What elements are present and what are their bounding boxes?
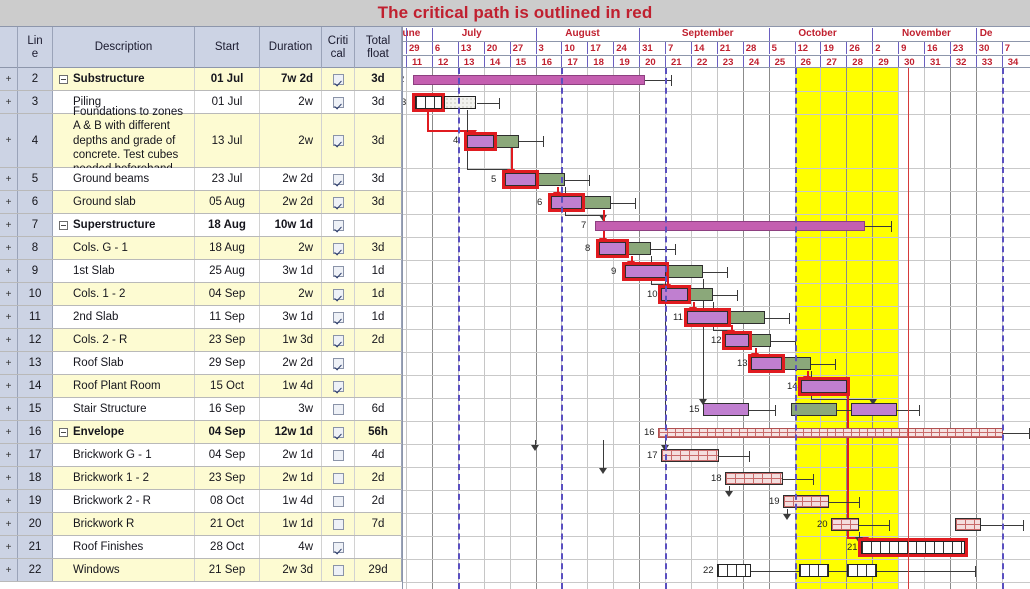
checkbox-checked-icon[interactable] <box>333 243 344 254</box>
cell-description[interactable]: Roof Plant Room <box>53 375 195 397</box>
gridline-horizontal <box>403 559 1030 560</box>
bar-row-label: 3 <box>402 97 406 108</box>
row-expand-handle[interactable]: + <box>0 306 18 328</box>
cell-line-number: 17 <box>18 444 53 466</box>
cell-start-date[interactable]: 05 Aug <box>195 191 260 213</box>
week-start-label: 17 <box>590 43 601 55</box>
row-expand-handle[interactable]: + <box>0 398 18 420</box>
checkbox-unchecked-icon[interactable] <box>333 450 344 461</box>
task-bar-actual[interactable] <box>728 311 765 324</box>
chart-frame: Lin e Description Start Duration Criti c… <box>0 26 1030 589</box>
cell-start-date[interactable]: 13 Jul <box>195 114 260 167</box>
month-label: June <box>402 28 420 40</box>
week-start-label: 9 <box>901 43 906 55</box>
week-number-tick <box>820 56 821 67</box>
month-label: De <box>980 28 993 40</box>
checkbox-checked-icon[interactable] <box>333 135 344 146</box>
task-bar-actual[interactable] <box>666 265 703 278</box>
cell-description[interactable]: Windows <box>53 559 195 581</box>
cell-start-date[interactable]: 21 Oct <box>195 513 260 535</box>
cell-start-date[interactable]: 21 Sep <box>195 559 260 581</box>
week-start-label: 13 <box>461 43 472 55</box>
collapse-icon[interactable] <box>59 75 68 84</box>
row-expand-handle[interactable]: + <box>0 421 18 443</box>
float-whisker-end <box>727 267 728 278</box>
float-whisker-end <box>813 474 814 485</box>
gridline-horizontal <box>403 513 1030 514</box>
column-header-critical-text2: cal <box>328 48 348 60</box>
critical-outline <box>412 93 445 112</box>
summary-bar[interactable] <box>413 75 645 85</box>
cell-critical-checkbox[interactable] <box>322 91 355 113</box>
description-text: Brickwork G - 1 <box>59 449 152 461</box>
row-expand-handle[interactable]: + <box>0 214 18 236</box>
cell-total-float: 1d <box>355 283 402 305</box>
collapse-icon[interactable] <box>59 221 68 230</box>
cell-description[interactable]: Cols. 2 - R <box>53 329 195 351</box>
cell-duration[interactable]: 4w <box>260 536 322 558</box>
row-expand-handle[interactable]: + <box>0 168 18 190</box>
row-expand-handle[interactable]: + <box>0 375 18 397</box>
cell-line-number: 12 <box>18 329 53 351</box>
cell-critical-checkbox[interactable] <box>322 306 355 328</box>
cell-description[interactable]: Brickwork 2 - R <box>53 490 195 512</box>
cell-duration[interactable]: 3w 1d <box>260 306 322 328</box>
checkbox-checked-icon[interactable] <box>333 381 344 392</box>
table-row[interactable]: +22Windows21 Sep2w 3d29d <box>0 559 402 582</box>
gridline-horizontal <box>403 444 1030 445</box>
cell-description[interactable]: Envelope <box>53 421 195 443</box>
cell-description[interactable]: Roof Finishes <box>53 536 195 558</box>
cell-line-number: 18 <box>18 467 53 489</box>
cell-duration[interactable]: 1w 4d <box>260 490 322 512</box>
table-row[interactable]: +5Ground beams23 Jul2w 2d3d <box>0 168 402 191</box>
cell-start-date[interactable]: 01 Jul <box>195 91 260 113</box>
cell-duration[interactable]: 2w 1d <box>260 467 322 489</box>
column-header-duration[interactable]: Duration <box>260 27 322 68</box>
summary-bar[interactable] <box>658 428 1003 438</box>
bar-row-label: 8 <box>585 243 590 254</box>
gridline-horizontal <box>403 375 1030 376</box>
cell-line-number: 2 <box>18 68 53 90</box>
checkbox-checked-icon[interactable] <box>333 220 344 231</box>
float-whisker <box>713 295 737 296</box>
row-expand-handle[interactable]: + <box>0 559 18 581</box>
critical-outline <box>596 239 629 258</box>
cell-critical-checkbox[interactable] <box>322 68 355 90</box>
cell-description[interactable]: Cols. G - 1 <box>53 237 195 259</box>
cell-start-date[interactable]: 15 Oct <box>195 375 260 397</box>
cell-start-date[interactable]: 23 Jul <box>195 168 260 190</box>
checkbox-checked-icon[interactable] <box>333 335 344 346</box>
task-bar-actual[interactable] <box>626 242 651 255</box>
task-bar-actual[interactable] <box>791 403 837 416</box>
table-row[interactable]: +91st Slab25 Aug3w 1d1d <box>0 260 402 283</box>
cell-start-date[interactable]: 04 Sep <box>195 444 260 466</box>
row-expand-handle[interactable]: + <box>0 191 18 213</box>
cell-line-number: 19 <box>18 490 53 512</box>
description-text: Roof Slab <box>59 357 124 369</box>
cell-duration[interactable]: 2w 3d <box>260 559 322 581</box>
cell-description[interactable]: Ground slab <box>53 191 195 213</box>
week-start-label: 7 <box>668 43 673 55</box>
cell-duration[interactable]: 12w 1d <box>260 421 322 443</box>
description-text: Cols. 1 - 2 <box>59 288 125 300</box>
cell-line-number: 13 <box>18 352 53 374</box>
checkbox-checked-icon[interactable] <box>333 174 344 185</box>
critical-outline <box>798 377 850 396</box>
month-tick <box>639 28 640 41</box>
gridline-horizontal <box>403 114 1030 115</box>
cell-critical-checkbox[interactable] <box>322 114 355 167</box>
month-label: September <box>682 28 734 40</box>
description-text: Roof Plant Room <box>59 380 161 392</box>
week-number-tick <box>536 56 537 67</box>
column-header-start[interactable]: Start <box>195 27 260 68</box>
table-row[interactable]: +7Superstructure18 Aug10w 1d <box>0 214 402 237</box>
week-start-label: 21 <box>720 43 731 55</box>
cell-critical-checkbox[interactable] <box>322 237 355 259</box>
bar-row-label: 21 <box>847 542 858 553</box>
link-arrowhead <box>531 445 539 451</box>
cell-duration[interactable]: 7w 2d <box>260 68 322 90</box>
cell-line-number: 22 <box>18 559 53 581</box>
cell-duration[interactable]: 2w 2d <box>260 168 322 190</box>
week-number-tick <box>561 56 562 67</box>
column-header-float-text1: Total <box>366 35 390 47</box>
week-tick <box>898 42 899 54</box>
week-number-tick <box>587 56 588 67</box>
critical-outline <box>658 285 691 304</box>
float-whisker-end <box>975 566 976 577</box>
table-row[interactable]: +112nd Slab11 Sep3w 1d1d <box>0 306 402 329</box>
cell-start-date[interactable]: 04 Sep <box>195 283 260 305</box>
row-expand-handle[interactable]: + <box>0 91 18 113</box>
cell-total-float: 2d <box>355 467 402 489</box>
cell-critical-checkbox[interactable] <box>322 214 355 236</box>
cell-duration[interactable]: 2w 2d <box>260 191 322 213</box>
table-row[interactable]: +15Stair Structure16 Sep3w6d <box>0 398 402 421</box>
column-header-total-float[interactable]: Total float <box>355 27 402 68</box>
cell-critical-checkbox[interactable] <box>322 398 355 420</box>
float-whisker-end <box>835 359 836 370</box>
table-row[interactable]: +12Cols. 2 - R23 Sep1w 3d2d <box>0 329 402 352</box>
cell-duration[interactable]: 2w 2d <box>260 352 322 374</box>
cell-duration[interactable]: 10w 1d <box>260 214 322 236</box>
cell-critical-checkbox[interactable] <box>322 375 355 397</box>
float-whisker <box>859 525 889 526</box>
task-bar-forecast[interactable] <box>955 518 981 531</box>
cell-duration[interactable]: 1w 1d <box>260 513 322 535</box>
cell-description[interactable]: Superstructure <box>53 214 195 236</box>
column-header-handle <box>0 27 18 68</box>
checkbox-unchecked-icon[interactable] <box>333 496 344 507</box>
checkbox-checked-icon[interactable] <box>333 542 344 553</box>
cell-start-date[interactable]: 16 Sep <box>195 398 260 420</box>
link-arrowhead <box>599 468 607 474</box>
task-bar-actual[interactable] <box>494 135 519 148</box>
checkbox-checked-icon[interactable] <box>333 427 344 438</box>
table-row[interactable]: +18Brickwork 1 - 223 Sep2w 1d2d <box>0 467 402 490</box>
float-whisker <box>837 410 851 411</box>
bar-row-label: 20 <box>817 519 828 530</box>
cell-duration[interactable]: 2w <box>260 91 322 113</box>
row-expand-handle[interactable]: + <box>0 513 18 535</box>
float-whisker-end <box>543 136 544 147</box>
task-bar-forecast[interactable] <box>851 403 897 416</box>
bar-row-label: 19 <box>769 496 780 507</box>
row-expand-handle[interactable]: + <box>0 68 18 90</box>
description-text: Envelope <box>73 426 124 438</box>
cell-duration[interactable]: 3w <box>260 398 322 420</box>
checkbox-checked-icon[interactable] <box>333 197 344 208</box>
summary-bar-body <box>658 428 1003 438</box>
checkbox-checked-icon[interactable] <box>333 289 344 300</box>
week-start-label: 12 <box>798 43 809 55</box>
row-expand-handle[interactable]: + <box>0 352 18 374</box>
cell-description[interactable]: Stair Structure <box>53 398 195 420</box>
cell-description[interactable]: Brickwork 1 - 2 <box>53 467 195 489</box>
week-number-tick <box>484 56 485 67</box>
task-bar-planned[interactable] <box>444 96 476 109</box>
cell-duration[interactable]: 2w 1d <box>260 444 322 466</box>
month-label: August <box>565 28 599 40</box>
task-bar-forecast[interactable] <box>847 564 877 577</box>
cell-start-date[interactable]: 29 Sep <box>195 352 260 374</box>
task-bar-planned[interactable] <box>703 403 749 416</box>
cell-duration[interactable]: 2w <box>260 114 322 167</box>
cell-description[interactable]: Brickwork R <box>53 513 195 535</box>
summary-bar[interactable] <box>595 221 865 231</box>
progress-marker <box>561 68 563 589</box>
row-expand-handle[interactable]: + <box>0 444 18 466</box>
week-tick <box>587 42 588 54</box>
week-start-label: 29 <box>409 43 420 55</box>
cell-critical-checkbox[interactable] <box>322 490 355 512</box>
description-text: Stair Structure <box>59 403 147 415</box>
table-row[interactable]: +4Foundations to zones A & B with differ… <box>0 114 402 168</box>
row-expand-handle[interactable]: + <box>0 283 18 305</box>
cell-description[interactable]: 1st Slab <box>53 260 195 282</box>
gridline-horizontal <box>403 214 1030 215</box>
week-number-tick <box>717 56 718 67</box>
month-tick <box>872 28 873 41</box>
cell-duration[interactable]: 2w <box>260 237 322 259</box>
cell-description[interactable]: Substructure <box>53 68 195 90</box>
cell-start-date[interactable]: 28 Oct <box>195 536 260 558</box>
cell-start-date[interactable]: 04 Sep <box>195 421 260 443</box>
cell-total-float: 3d <box>355 68 402 90</box>
cell-start-date[interactable]: 01 Jul <box>195 68 260 90</box>
row-expand-handle[interactable]: + <box>0 536 18 558</box>
task-bar-planned[interactable] <box>661 449 719 462</box>
row-expand-handle[interactable]: + <box>0 237 18 259</box>
column-header-line[interactable]: Lin e <box>18 27 53 68</box>
cell-critical-checkbox[interactable] <box>322 444 355 466</box>
week-number-tick <box>950 56 951 67</box>
float-whisker-end <box>635 198 636 209</box>
month-tick <box>769 28 770 41</box>
row-expand-handle[interactable]: + <box>0 467 18 489</box>
description-text: Ground slab <box>59 196 136 208</box>
checkbox-checked-icon[interactable] <box>333 266 344 277</box>
cell-critical-checkbox[interactable] <box>322 559 355 581</box>
cell-description[interactable]: Foundations to zones A & B with differen… <box>53 114 195 167</box>
cell-line-number: 9 <box>18 260 53 282</box>
bar-row-label: 11 <box>673 312 683 323</box>
task-bar-actual[interactable] <box>688 288 713 301</box>
task-bar-actual[interactable] <box>799 564 829 577</box>
float-whisker-end <box>749 451 750 462</box>
cell-critical-checkbox[interactable] <box>322 191 355 213</box>
week-number-tick <box>613 56 614 67</box>
cell-start-date[interactable]: 11 Sep <box>195 306 260 328</box>
week-tick <box>950 42 951 54</box>
cell-start-date[interactable]: 08 Oct <box>195 490 260 512</box>
cell-line-number: 3 <box>18 91 53 113</box>
cell-description[interactable]: Cols. 1 - 2 <box>53 283 195 305</box>
table-row[interactable]: +8Cols. G - 118 Aug2w3d <box>0 237 402 260</box>
cell-total-float: 4d <box>355 444 402 466</box>
float-whisker-end <box>789 313 790 324</box>
cell-total-float <box>355 375 402 397</box>
gridline-horizontal <box>403 283 1030 284</box>
cell-start-date[interactable]: 23 Sep <box>195 329 260 351</box>
title-bar: The critical path is outlined in red <box>0 0 1030 26</box>
checkbox-checked-icon[interactable] <box>333 74 344 85</box>
table-row[interactable]: +6Ground slab05 Aug2w 2d3d <box>0 191 402 214</box>
description-text: 1st Slab <box>59 265 115 277</box>
month-tick <box>536 28 537 41</box>
table-row[interactable]: +2Substructure01 Jul7w 2d3d <box>0 68 402 91</box>
cell-critical-checkbox[interactable] <box>322 283 355 305</box>
link-vertical <box>511 148 513 169</box>
collapse-icon[interactable] <box>59 428 68 437</box>
progress-marker <box>795 68 797 589</box>
float-whisker <box>1003 433 1029 434</box>
cell-start-date[interactable]: 25 Aug <box>195 260 260 282</box>
checkbox-checked-icon[interactable] <box>333 312 344 323</box>
task-bar-planned[interactable] <box>725 472 783 485</box>
cell-total-float <box>355 536 402 558</box>
cell-duration[interactable]: 1w 4d <box>260 375 322 397</box>
column-header-description[interactable]: Description <box>53 27 195 68</box>
table-header-row: Lin e Description Start Duration Criti c… <box>0 26 402 68</box>
table-row[interactable]: +14Roof Plant Room15 Oct1w 4d <box>0 375 402 398</box>
week-tick <box>536 42 537 54</box>
cell-start-date[interactable]: 18 Aug <box>195 214 260 236</box>
cell-critical-checkbox[interactable] <box>322 467 355 489</box>
cell-line-number: 6 <box>18 191 53 213</box>
task-bar-actual[interactable] <box>582 196 611 209</box>
checkbox-checked-icon[interactable] <box>333 358 344 369</box>
gridline-horizontal <box>403 582 1030 583</box>
cell-line-number: 5 <box>18 168 53 190</box>
month-tick <box>406 28 407 41</box>
week-start-label: 10 <box>564 43 575 55</box>
month-label: October <box>798 28 836 40</box>
task-bar-actual[interactable] <box>782 357 811 370</box>
cell-duration[interactable]: 2w <box>260 283 322 305</box>
cell-critical-checkbox[interactable] <box>322 536 355 558</box>
cell-total-float: 7d <box>355 513 402 535</box>
cell-description[interactable]: 2nd Slab <box>53 306 195 328</box>
float-whisker <box>651 249 675 250</box>
table-row[interactable]: +10Cols. 1 - 204 Sep2w1d <box>0 283 402 306</box>
gridline-horizontal <box>403 352 1030 353</box>
week-number-tick <box>898 56 899 67</box>
cell-start-date[interactable]: 18 Aug <box>195 237 260 259</box>
cell-critical-checkbox[interactable] <box>322 329 355 351</box>
week-tick <box>795 42 796 54</box>
task-bar-actual[interactable] <box>749 334 771 347</box>
week-start-label: 7 <box>1005 43 1010 55</box>
table-row[interactable]: +13Roof Slab29 Sep2w 2d <box>0 352 402 375</box>
task-bar-planned[interactable] <box>831 518 859 531</box>
gridline-horizontal <box>403 536 1030 537</box>
cell-critical-checkbox[interactable] <box>322 168 355 190</box>
week-number-tick <box>795 56 796 67</box>
gantt-application: The critical path is outlined in red Lin… <box>0 0 1030 589</box>
week-tick <box>976 42 977 54</box>
week-tick <box>510 42 511 54</box>
table-row[interactable]: +21Roof Finishes28 Oct4w <box>0 536 402 559</box>
week-tick <box>769 42 770 54</box>
cell-duration[interactable]: 1w 3d <box>260 329 322 351</box>
cell-start-date[interactable]: 23 Sep <box>195 467 260 489</box>
description-text: Brickwork R <box>59 518 134 530</box>
table-row[interactable]: +16Envelope04 Sep12w 1d56h <box>0 421 402 444</box>
row-expand-handle[interactable]: + <box>0 490 18 512</box>
checkbox-unchecked-icon[interactable] <box>333 565 344 576</box>
checkbox-unchecked-icon[interactable] <box>333 519 344 530</box>
bar-row-label: 7 <box>581 220 586 231</box>
cell-duration[interactable]: 3w 1d <box>260 260 322 282</box>
gridline-horizontal <box>403 91 1030 92</box>
bar-row-label: 2 <box>402 74 404 85</box>
gantt-pane: JuneJulyAugustSeptemberOctoberNovemberDe… <box>402 26 1030 589</box>
row-expand-handle[interactable]: + <box>0 329 18 351</box>
float-whisker-end <box>499 98 500 109</box>
table-row[interactable]: +20Brickwork R21 Oct1w 1d7d <box>0 513 402 536</box>
table-row[interactable]: +17Brickwork G - 104 Sep2w 1d4d <box>0 444 402 467</box>
checkbox-unchecked-icon[interactable] <box>333 473 344 484</box>
row-expand-handle[interactable]: + <box>0 260 18 282</box>
checkbox-unchecked-icon[interactable] <box>333 404 344 415</box>
cell-critical-checkbox[interactable] <box>322 421 355 443</box>
task-bar-planned[interactable] <box>783 495 829 508</box>
cell-description[interactable]: Ground beams <box>53 168 195 190</box>
cell-critical-checkbox[interactable] <box>322 513 355 535</box>
task-bar-planned[interactable] <box>717 564 751 577</box>
description-text: Substructure <box>73 73 145 85</box>
week-number-tick <box>665 56 666 67</box>
cell-critical-checkbox[interactable] <box>322 260 355 282</box>
week-tick <box>924 42 925 54</box>
description-text: 2nd Slab <box>59 311 118 323</box>
cell-description[interactable]: Roof Slab <box>53 352 195 374</box>
bar-row-label: 22 <box>703 565 714 576</box>
cell-critical-checkbox[interactable] <box>322 352 355 374</box>
table-row[interactable]: +19Brickwork 2 - R08 Oct1w 4d2d <box>0 490 402 513</box>
cell-line-number: 16 <box>18 421 53 443</box>
row-expand-handle[interactable]: + <box>0 114 18 167</box>
bar-row-label: 12 <box>711 335 722 346</box>
cell-description[interactable]: Brickwork G - 1 <box>53 444 195 466</box>
column-header-critical[interactable]: Criti cal <box>322 27 355 68</box>
checkbox-checked-icon[interactable] <box>333 97 344 108</box>
float-whisker <box>749 410 775 411</box>
